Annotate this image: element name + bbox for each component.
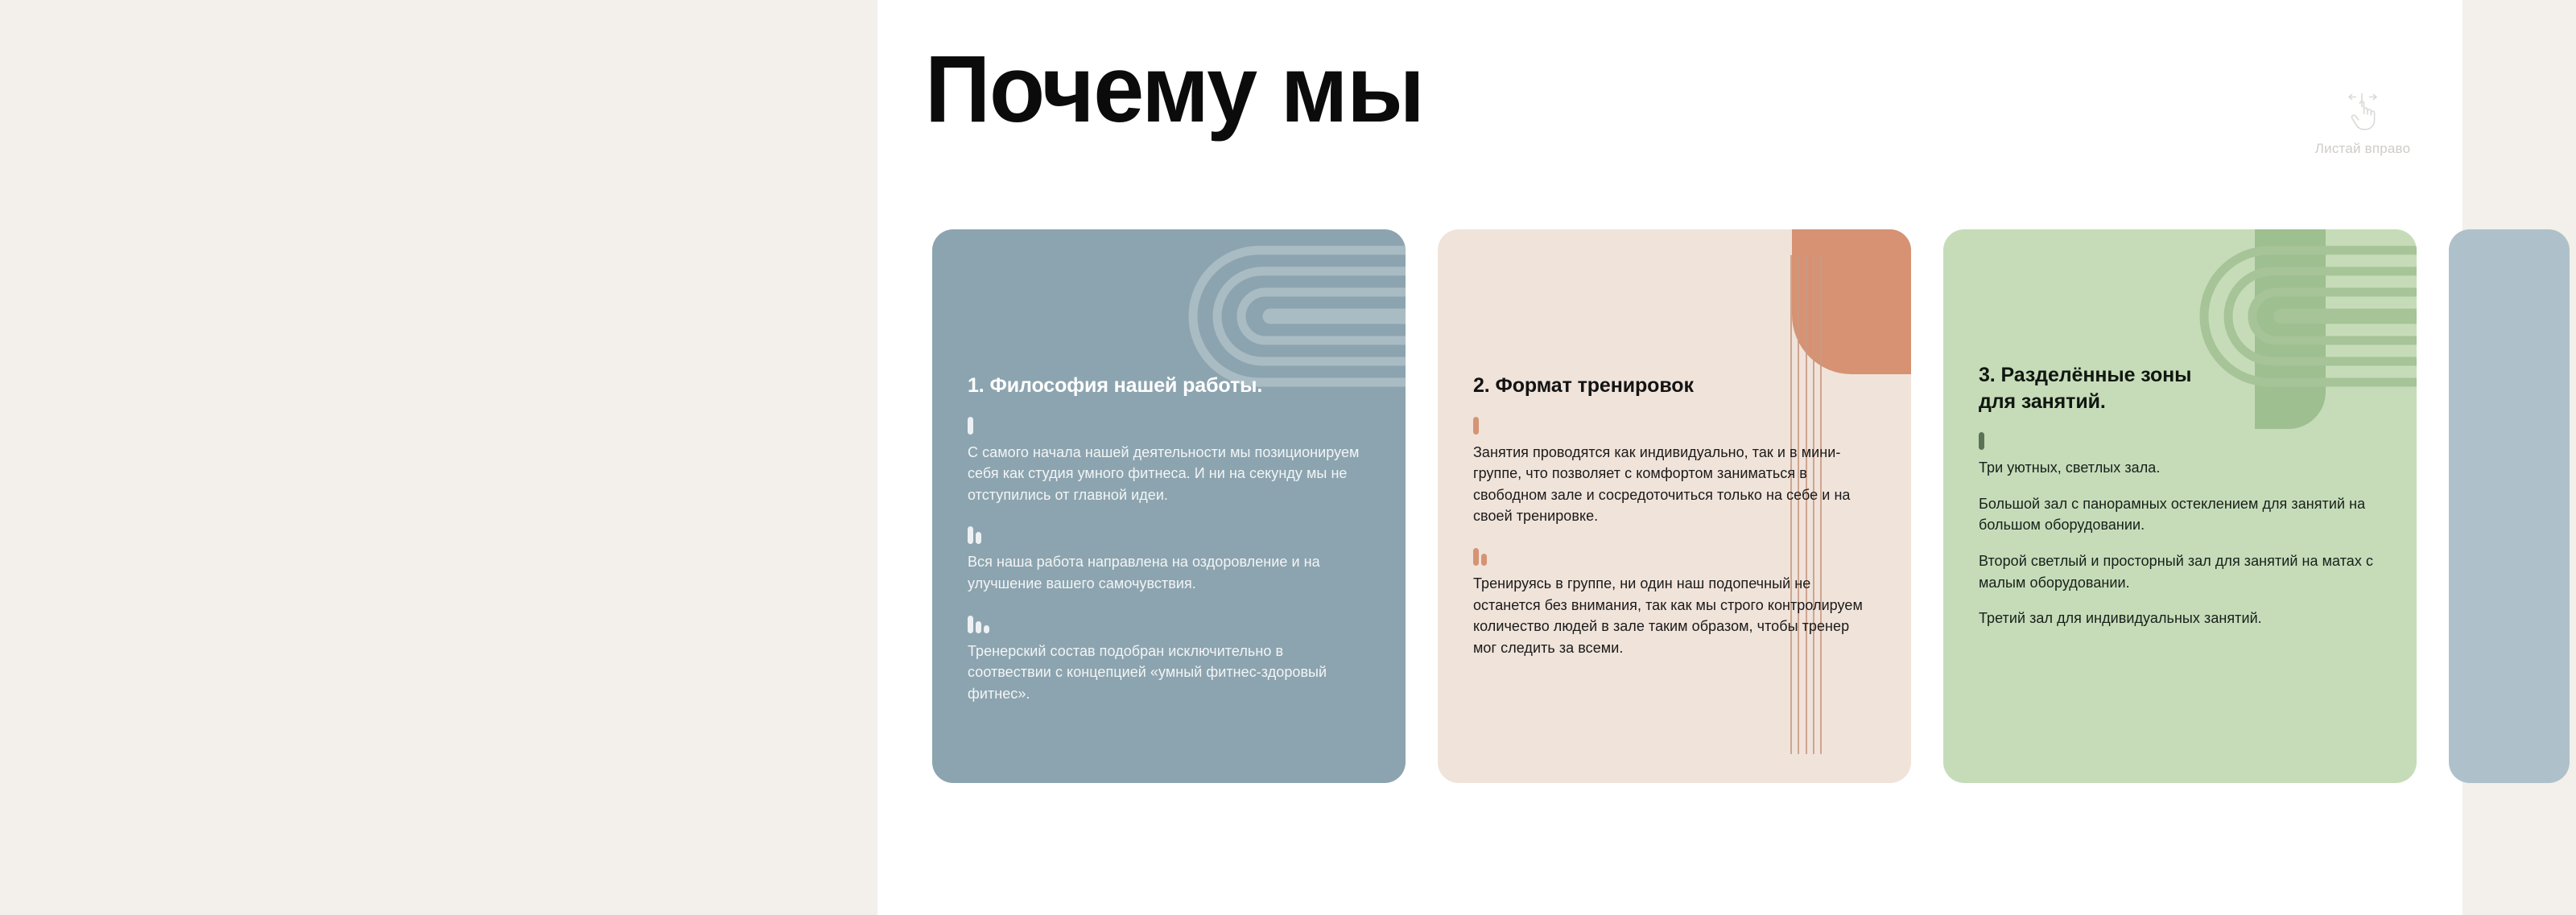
card-body: 1. Философия нашей работы. С самого нача… (932, 229, 1406, 705)
swipe-hint-label: Листай вправо (2293, 141, 2433, 157)
card-format[interactable]: 2. Формат тренировок Занятия проводятся … (1438, 229, 1911, 783)
card-block: Тренируясь в группе, ни один наш подопеч… (1473, 548, 1876, 659)
card-block: Вся наша работа направлена на оздоровлен… (968, 526, 1370, 594)
bar-marker-2-icon (968, 526, 1370, 544)
card-block: С самого начала нашей деятельности мы по… (968, 417, 1370, 506)
block-paragraph: Тренируясь в группе, ни один наш подопеч… (1473, 573, 1876, 659)
card-philosophy[interactable]: 1. Философия нашей работы. С самого нача… (932, 229, 1406, 783)
left-beige-rail (0, 0, 877, 915)
card-heading: 3. Разделённые зоны для занятий. (1979, 362, 2381, 414)
card-body: 3. Разделённые зоны для занятий. Три уют… (1943, 229, 2417, 629)
block-paragraph: Тренерский состав подобран исключительно… (968, 641, 1370, 705)
bar-marker-1-icon (1473, 417, 1876, 435)
block-paragraph: Большой зал с панорамных остеклением для… (1979, 493, 2381, 536)
card-heading: 1. Философия нашей работы. (968, 373, 1370, 399)
block-paragraph: Три уютных, светлых зала. (1979, 457, 2381, 479)
bar-marker-1-icon (1979, 432, 2381, 450)
card-block: Занятия проводятся как индивидуально, та… (1473, 417, 1876, 528)
card-zones[interactable]: 3. Разделённые зоны для занятий. Три уют… (1943, 229, 2417, 783)
card-blocks: Занятия проводятся как индивидуально, та… (1473, 417, 1876, 659)
page-title: Почему мы (925, 42, 1423, 137)
card-heading: 2. Формат тренировок (1473, 373, 1876, 399)
slide-canvas: Почему мы Листай вправо (0, 0, 2576, 915)
block-paragraph: С самого начала нашей деятельности мы по… (968, 442, 1370, 506)
block-paragraph: Второй светлый и просторный зал для заня… (1979, 550, 2381, 593)
bar-marker-3-icon (968, 616, 1370, 633)
block-paragraph: Третий зал для индивидуальных занятий. (1979, 608, 2381, 629)
block-paragraph: Вся наша работа направлена на оздоровлен… (968, 551, 1370, 594)
card-blocks: С самого начала нашей деятельности мы по… (968, 417, 1370, 705)
card-block: Тренерский состав подобран исключительно… (968, 616, 1370, 705)
cards-carousel[interactable]: 1. Философия нашей работы. С самого нача… (932, 229, 2570, 783)
card-body: 2. Формат тренировок Занятия проводятся … (1438, 229, 1911, 659)
card-blocks: Три уютных, светлых зала. Большой зал с … (1979, 432, 2381, 629)
card-block: Три уютных, светлых зала. Большой зал с … (1979, 432, 2381, 629)
block-paragraph: Занятия проводятся как индивидуально, та… (1473, 442, 1876, 528)
swipe-hand-icon (2293, 90, 2433, 136)
swipe-hint: Листай вправо (2293, 90, 2433, 157)
bar-marker-1-icon (968, 417, 1370, 435)
card-next-partial[interactable] (2449, 229, 2570, 783)
bar-marker-2-icon (1473, 548, 1876, 566)
